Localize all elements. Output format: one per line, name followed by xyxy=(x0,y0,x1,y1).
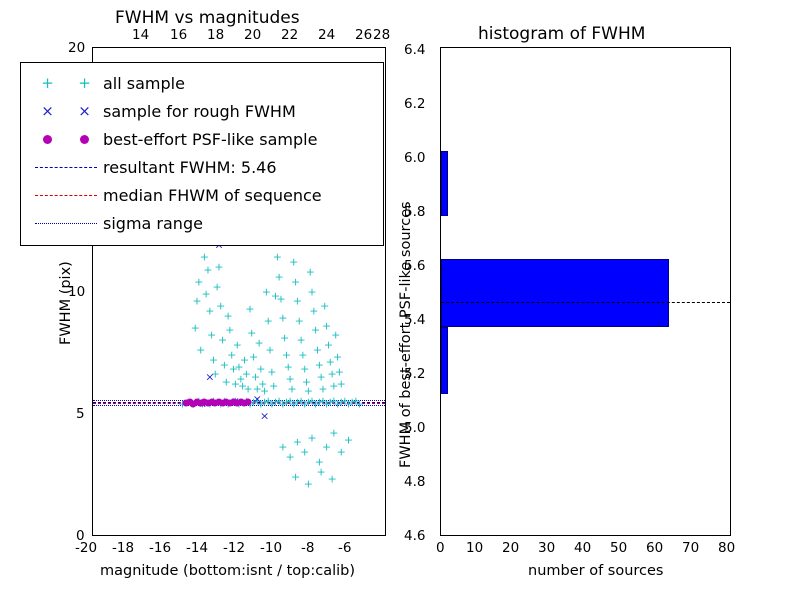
scatter-point: + xyxy=(322,442,331,453)
left-ytick-0: 0 xyxy=(76,528,85,544)
left-xtick-top-7: 28 xyxy=(373,27,390,43)
right-xtick-7: 70 xyxy=(682,540,699,556)
right-xtick-5: 50 xyxy=(610,540,627,556)
figure-canvas: FWHM vs magnitudes 14 16 18 20 22 24 26 … xyxy=(0,0,800,600)
left-panel-title: FWHM vs magnitudes xyxy=(115,8,300,28)
right-xtick-6: 60 xyxy=(646,540,663,556)
scatter-point: + xyxy=(276,293,285,304)
scatter-point: + xyxy=(307,432,316,443)
scatter-point: + xyxy=(300,364,309,375)
right-xtick-0: 0 xyxy=(436,540,445,556)
scatter-point: + xyxy=(289,257,298,268)
left-ytick-4: 20 xyxy=(68,40,85,56)
left-xtick-top-1: 16 xyxy=(170,27,187,43)
legend-label-0: all sample xyxy=(103,74,185,93)
scatter-point: + xyxy=(222,376,231,387)
scatter-point: + xyxy=(298,349,307,360)
left-xtick-top-3: 20 xyxy=(244,27,261,43)
left-yaxis-label: FWHM (pix) xyxy=(58,261,74,345)
legend-item-resultant-fwhm: resultant FWHM: 5.46 xyxy=(29,153,375,181)
scatter-point: + xyxy=(223,310,232,321)
scatter-point: + xyxy=(254,337,263,348)
scatter-point: + xyxy=(337,447,346,458)
scatter-point: + xyxy=(295,315,304,326)
right-xtick-3: 30 xyxy=(538,540,555,556)
left-xtick-3: -14 xyxy=(186,540,208,556)
scatter-point: + xyxy=(355,398,364,409)
scatter-point: + xyxy=(287,383,296,394)
scatter-point: + xyxy=(240,354,249,365)
scatter-point: + xyxy=(307,286,316,297)
legend-marker-dashdot-icon xyxy=(29,223,103,224)
scatter-point: + xyxy=(291,471,300,482)
legend-label-5: sigma range xyxy=(103,214,203,233)
left-xaxis-label: magnitude (bottom:isnt / top:calib) xyxy=(100,563,355,579)
scatter-point: + xyxy=(333,352,342,363)
legend-label-2: best-effort PSF-like sample xyxy=(103,130,317,149)
scatter-point: + xyxy=(244,383,253,394)
scatter-point: + xyxy=(273,252,282,263)
scatter-point: + xyxy=(225,325,234,336)
legend-label-4: median FHWM of sequence xyxy=(103,186,322,205)
scatter-point: + xyxy=(209,354,218,365)
right-histogram-plot[interactable] xyxy=(440,47,731,536)
left-xtick-top-5: 24 xyxy=(318,27,335,43)
scatter-point: + xyxy=(344,435,353,446)
scatter-point: + xyxy=(202,288,211,299)
left-xtick-6: -8 xyxy=(301,540,314,556)
scatter-point: + xyxy=(329,427,338,438)
scatter-point: × xyxy=(260,410,269,421)
right-xtick-4: 40 xyxy=(574,540,591,556)
scatter-point: + xyxy=(315,359,324,370)
scatter-point: + xyxy=(322,320,331,331)
left-xtick-top-6: 26 xyxy=(355,27,372,43)
scatter-point: + xyxy=(317,371,326,382)
left-xtick-1: -18 xyxy=(112,540,134,556)
scatter-point: + xyxy=(242,369,251,380)
left-xtick-top-2: 18 xyxy=(207,27,224,43)
scatter-point: + xyxy=(203,264,212,275)
scatter-point: + xyxy=(300,447,309,458)
left-xtick-top-0: 14 xyxy=(132,27,149,43)
scatter-point: + xyxy=(207,330,216,341)
right-xaxis-label: number of sources xyxy=(528,563,664,579)
scatter-point: + xyxy=(262,286,271,297)
right-ytick-9: 6.4 xyxy=(404,42,425,58)
scatter-point: + xyxy=(245,303,254,314)
scatter-point xyxy=(245,399,252,406)
histogram-bar xyxy=(441,151,448,216)
scatter-point: + xyxy=(304,478,313,489)
scatter-point: + xyxy=(320,301,329,312)
scatter-point: + xyxy=(256,364,265,375)
left-xtick-top-4: 22 xyxy=(281,27,298,43)
scatter-point: + xyxy=(291,276,300,287)
scatter-point: + xyxy=(191,323,200,334)
scatter-point: + xyxy=(335,366,344,377)
legend-item-sigma-range: sigma range xyxy=(29,209,375,237)
right-xtick-2: 20 xyxy=(502,540,519,556)
scatter-point: + xyxy=(304,386,313,397)
legend-label-3: resultant FWHM: 5.46 xyxy=(103,158,277,177)
scatter-point: + xyxy=(269,381,278,392)
legend-marker-cross-icon: ×× xyxy=(29,102,103,120)
legend-marker-dot-icon xyxy=(29,135,103,144)
scatter-point: + xyxy=(311,325,320,336)
scatter-point: + xyxy=(282,349,291,360)
scatter-point: + xyxy=(318,383,327,394)
scatter-point: + xyxy=(212,281,221,292)
scatter-point: + xyxy=(233,340,242,351)
scatter-point: + xyxy=(275,271,284,282)
scatter-point: + xyxy=(306,267,315,278)
legend-label-1: sample for rough FWHM xyxy=(103,102,296,121)
left-xtick-2: -16 xyxy=(149,540,171,556)
scatter-point: + xyxy=(280,332,289,343)
scatter-point: + xyxy=(264,315,273,326)
scatter-point: + xyxy=(192,296,201,307)
right-xtick-1: 10 xyxy=(466,540,483,556)
scatter-point: + xyxy=(296,335,305,346)
histogram-bar xyxy=(441,327,448,395)
scatter-point: + xyxy=(267,366,276,377)
scatter-point: + xyxy=(265,344,274,355)
right-xtick-8: 80 xyxy=(718,540,735,556)
scatter-point: + xyxy=(313,344,322,355)
legend-box: ++ all sample ×× sample for rough FWHM b… xyxy=(20,62,384,246)
scatter-point: + xyxy=(285,452,294,463)
left-xtick-5: -10 xyxy=(260,540,282,556)
right-panel-title: histogram of FWHM xyxy=(478,24,645,44)
scatter-point: + xyxy=(214,262,223,273)
legend-marker-red-dashed-icon xyxy=(29,195,103,196)
legend-item-all-sample: ++ all sample xyxy=(29,69,375,97)
left-xtick-4: -12 xyxy=(223,540,245,556)
legend-item-median-fwhm: median FHWM of sequence xyxy=(29,181,375,209)
scatter-point: + xyxy=(200,252,209,263)
scatter-point: + xyxy=(196,344,205,355)
left-xtick-7: -6 xyxy=(338,540,351,556)
scatter-point: + xyxy=(293,296,302,307)
legend-marker-blue-dashed-icon xyxy=(29,167,103,168)
scatter-point: + xyxy=(194,276,203,287)
right-ytick-0: 4.6 xyxy=(404,528,425,544)
scatter-point: + xyxy=(327,473,336,484)
right-ytick-1: 4.8 xyxy=(404,474,425,490)
legend-item-rough-fwhm: ×× sample for rough FWHM xyxy=(29,97,375,125)
scatter-point: + xyxy=(317,466,326,477)
right-ytick-7: 6.0 xyxy=(404,150,425,166)
scatter-point: × xyxy=(205,371,214,382)
scatter-point: + xyxy=(284,361,293,372)
right-yaxis-label: FWHM of best-effort PSF-like sources xyxy=(398,201,414,468)
right-ytick-8: 6.2 xyxy=(404,96,425,112)
scatter-point: × xyxy=(253,393,262,404)
left-ytick-1: 5 xyxy=(76,406,85,422)
scatter-point: + xyxy=(278,313,287,324)
scatter-point: + xyxy=(205,305,214,316)
median-marker-line xyxy=(441,302,730,303)
histogram-bar xyxy=(441,259,669,327)
scatter-point: + xyxy=(337,379,346,390)
legend-item-psf-like: best-effort PSF-like sample xyxy=(29,125,375,153)
scatter-point: + xyxy=(309,305,318,316)
scatter-point: + xyxy=(249,352,258,363)
scatter-point: + xyxy=(331,330,340,341)
legend-marker-plus-icon: ++ xyxy=(29,74,103,92)
